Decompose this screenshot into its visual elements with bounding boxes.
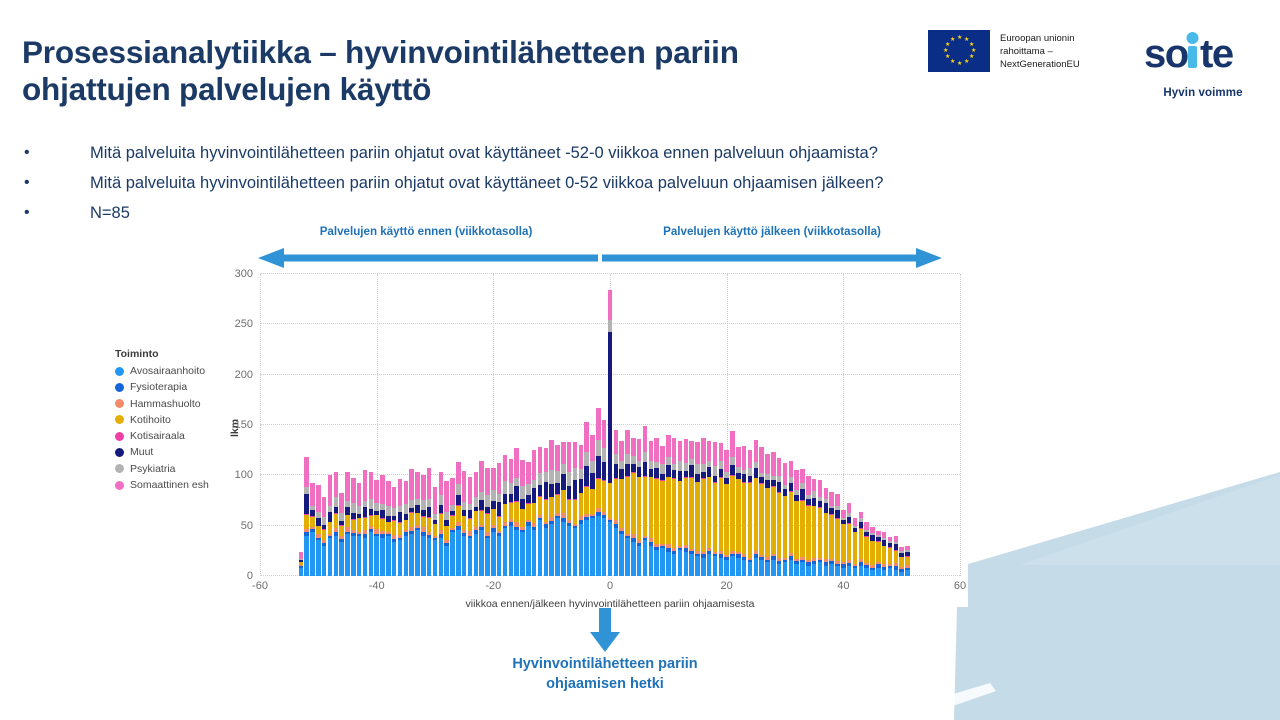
bar[interactable] <box>835 494 840 576</box>
bar-segment <box>549 484 554 496</box>
bar[interactable] <box>561 442 566 576</box>
bar[interactable] <box>783 463 788 576</box>
bar[interactable] <box>608 290 613 576</box>
bar-segment <box>409 469 414 499</box>
bar[interactable] <box>888 537 893 576</box>
legend-item-label: Fysioterapia <box>130 381 187 393</box>
bar[interactable] <box>421 475 426 576</box>
bar-segment <box>719 461 724 469</box>
bar[interactable] <box>328 475 333 576</box>
bar-segment <box>602 448 607 462</box>
bar[interactable] <box>771 452 776 576</box>
bar-segment <box>742 446 747 470</box>
bar-segment <box>614 430 619 454</box>
bar[interactable] <box>701 438 706 576</box>
bar-segment <box>625 464 630 476</box>
bar[interactable] <box>619 441 624 576</box>
bar-segment <box>497 502 502 516</box>
bar[interactable] <box>363 470 368 576</box>
bar-segment <box>619 441 624 461</box>
bar-segment <box>573 480 578 498</box>
bar[interactable] <box>322 497 327 576</box>
bar-segment <box>334 497 339 507</box>
bar[interactable] <box>765 454 770 576</box>
bar[interactable] <box>719 443 724 576</box>
bar-segment <box>392 542 397 576</box>
bar-segment <box>707 554 712 576</box>
bar[interactable] <box>485 468 490 576</box>
bar[interactable] <box>444 481 449 576</box>
bar[interactable] <box>544 448 549 576</box>
bar[interactable] <box>625 430 630 576</box>
plot-area: lkm 050100150200250300-60-40-200204060 v… <box>260 274 960 576</box>
bar-segment <box>409 513 414 527</box>
bar[interactable] <box>439 472 444 576</box>
bar[interactable] <box>789 461 794 576</box>
bar-segment <box>444 546 449 576</box>
bar-segment <box>421 517 426 527</box>
bar-segment <box>754 558 759 576</box>
bar-segment <box>334 472 339 496</box>
legend-item[interactable]: Muut <box>115 446 250 458</box>
bar-segment <box>643 462 648 476</box>
bar-segment <box>503 455 508 481</box>
bar-segment <box>474 497 479 507</box>
bar-segment <box>684 463 689 471</box>
bar[interactable] <box>584 422 589 576</box>
bar[interactable] <box>882 532 887 576</box>
bar-segment <box>806 476 811 494</box>
bar[interactable] <box>742 446 747 576</box>
bar-segment <box>520 486 525 498</box>
bar-segment <box>853 518 858 526</box>
bar-segment <box>392 521 397 535</box>
bar[interactable] <box>427 468 432 576</box>
bar-segment <box>374 536 379 576</box>
bar-segment <box>812 506 817 558</box>
bar[interactable] <box>462 471 467 576</box>
bar-segment <box>672 438 677 464</box>
bar-segment <box>310 532 315 576</box>
bar[interactable] <box>549 440 554 576</box>
bar-segment <box>322 530 327 540</box>
bar-segment <box>462 471 467 501</box>
bar-segment <box>765 488 770 556</box>
bar-segment <box>357 518 362 532</box>
bar-segment <box>602 481 607 511</box>
bar[interactable] <box>450 478 455 576</box>
bar-segment <box>316 540 321 576</box>
legend-swatch-icon <box>115 448 124 457</box>
brush-decoration <box>950 445 1280 720</box>
bar-segment <box>520 460 525 486</box>
bar-segment <box>643 477 648 535</box>
bar-segment <box>561 474 566 490</box>
bar-segment <box>695 482 700 550</box>
bar[interactable] <box>374 480 379 576</box>
bar-segment <box>304 515 309 529</box>
bar-segment <box>299 568 304 576</box>
bar-segment <box>479 511 484 525</box>
bar[interactable] <box>369 472 374 576</box>
bar[interactable] <box>684 439 689 576</box>
bar-segment <box>695 474 700 482</box>
bar[interactable] <box>538 447 543 576</box>
bar[interactable] <box>555 445 560 576</box>
bar[interactable] <box>614 430 619 576</box>
bar-segment <box>549 440 554 470</box>
bar[interactable] <box>736 447 741 576</box>
bar-segment <box>678 441 683 461</box>
bar-segment <box>544 500 549 522</box>
bar-segment <box>555 445 560 471</box>
bar-segment <box>439 505 444 513</box>
bar[interactable] <box>660 446 665 576</box>
bar[interactable] <box>509 459 514 576</box>
bar-segment <box>532 503 537 523</box>
bar-segment <box>824 488 829 498</box>
bar[interactable] <box>339 493 344 577</box>
bar[interactable] <box>847 503 852 576</box>
bar[interactable] <box>864 522 869 576</box>
bar-segment <box>439 495 444 505</box>
bar-segment <box>713 556 718 576</box>
bar-segment <box>859 529 864 559</box>
bar[interactable] <box>777 458 782 576</box>
bar[interactable] <box>794 470 799 576</box>
bar[interactable] <box>386 481 391 576</box>
bar-segment <box>351 503 356 513</box>
legend-item[interactable]: Avosairaanhoito <box>115 365 250 377</box>
bar-segment <box>345 472 350 500</box>
bar-segment <box>829 515 834 559</box>
bar[interactable] <box>853 518 858 576</box>
bar[interactable] <box>806 476 811 576</box>
bar-segment <box>497 463 502 493</box>
bar-segment <box>409 534 414 576</box>
soite-wordmark: so te <box>1144 30 1262 82</box>
bar-segment <box>847 566 852 576</box>
bar-segment <box>596 440 601 456</box>
bar-segment <box>573 528 578 576</box>
bar-segment <box>678 550 683 576</box>
bar[interactable] <box>474 472 479 576</box>
bar-segment <box>870 570 875 576</box>
bar-segment <box>374 480 379 502</box>
bar[interactable] <box>637 439 642 576</box>
bar-segment <box>835 510 840 518</box>
bar-segment <box>649 546 654 576</box>
bar[interactable] <box>870 527 875 576</box>
bar[interactable] <box>672 438 677 576</box>
bar-segment <box>619 479 624 527</box>
bar-segment <box>818 508 823 558</box>
bar[interactable] <box>818 480 823 576</box>
bar-segment <box>637 546 642 576</box>
bar-segment <box>520 532 525 576</box>
bar-segment <box>421 536 426 576</box>
bar-segment <box>567 486 572 498</box>
bar-segment <box>783 463 788 485</box>
bar-segment <box>538 497 543 515</box>
bar-segment <box>695 464 700 474</box>
bar[interactable] <box>398 479 403 576</box>
bar[interactable] <box>579 445 584 576</box>
bar-segment <box>357 483 362 505</box>
bar-segment <box>713 483 718 551</box>
bar[interactable] <box>345 472 350 576</box>
bar-segment <box>614 528 619 576</box>
bar[interactable] <box>730 431 735 576</box>
bar-segment <box>322 497 327 517</box>
bar[interactable] <box>602 420 607 576</box>
bar-segment <box>503 528 508 576</box>
bar-segment <box>456 484 461 494</box>
bar-segment <box>637 439 642 461</box>
bar[interactable] <box>894 536 899 576</box>
bar[interactable] <box>409 469 414 576</box>
bar[interactable] <box>859 512 864 576</box>
bar[interactable] <box>468 477 473 576</box>
bar-segment <box>322 546 327 576</box>
legend-item-label: Kotihoito <box>130 414 171 426</box>
bar-segment <box>783 496 788 558</box>
legend-item[interactable]: Hammashuolto <box>115 398 250 410</box>
bar-segment <box>584 466 589 486</box>
bar-segment <box>789 560 794 576</box>
bar[interactable] <box>812 479 817 576</box>
bar-segment <box>853 532 858 564</box>
bar-segment <box>719 558 724 576</box>
bar[interactable] <box>759 447 764 576</box>
legend-item-label: Avosairaanhoito <box>130 365 205 377</box>
bar-segment <box>824 513 829 559</box>
bar[interactable] <box>713 442 718 576</box>
bar[interactable] <box>800 469 805 576</box>
bar[interactable] <box>643 426 648 576</box>
bar-segment <box>369 516 374 526</box>
bar-segment <box>509 494 514 502</box>
bar[interactable] <box>456 462 461 576</box>
bar-segment <box>514 478 519 486</box>
bar-segment <box>427 468 432 498</box>
bar-segment <box>806 566 811 576</box>
bar-segment <box>643 540 648 576</box>
bar-segment <box>631 542 636 576</box>
bar-segment <box>462 516 467 530</box>
bar-segment <box>765 562 770 576</box>
bar[interactable] <box>299 552 304 576</box>
bar-segment <box>777 482 782 492</box>
bar[interactable] <box>829 492 834 576</box>
bar-segment <box>730 465 735 475</box>
bar-segment <box>666 457 671 465</box>
soite-tagline: Hyvin voimme <box>1163 87 1242 99</box>
bar-segment <box>450 516 455 528</box>
bar[interactable] <box>899 547 904 576</box>
bar-segment <box>596 516 601 576</box>
bar-segment <box>561 490 566 512</box>
bar-segment <box>719 478 724 550</box>
bar[interactable] <box>707 441 712 576</box>
bar-segment <box>730 476 735 550</box>
legend-swatch-icon <box>115 432 124 441</box>
bar-segment <box>724 484 729 554</box>
bar-segment <box>485 538 490 576</box>
bar[interactable] <box>392 487 397 576</box>
slide: Prosessianalytiikka – hyvinvointilähette… <box>0 0 1280 720</box>
bar-segment <box>427 507 432 517</box>
bar-segment <box>456 530 461 576</box>
bar-segment <box>800 562 805 576</box>
bar[interactable] <box>824 488 829 576</box>
bar[interactable] <box>876 531 881 576</box>
bar-segment <box>369 472 374 498</box>
bar[interactable] <box>310 483 315 576</box>
bar[interactable] <box>404 481 409 576</box>
bar[interactable] <box>841 510 846 576</box>
bar[interactable] <box>351 478 356 576</box>
bar-segment <box>841 568 846 576</box>
bar-segment <box>654 468 659 478</box>
bar-segment <box>707 441 712 461</box>
bar[interactable] <box>433 487 438 576</box>
bar[interactable] <box>654 438 659 576</box>
bar-segment <box>380 519 385 531</box>
bar[interactable] <box>724 450 729 576</box>
bar[interactable] <box>695 442 700 576</box>
bar-segment <box>730 556 735 576</box>
bar-segment <box>695 442 700 464</box>
bar[interactable] <box>491 468 496 576</box>
bar[interactable] <box>357 483 362 576</box>
bar-segment <box>380 475 385 503</box>
bar-segment <box>812 479 817 491</box>
bar-segment <box>491 490 496 500</box>
bar[interactable] <box>678 441 683 576</box>
after-arrow-label-wrap: Palvelujen käyttö jälkeen (viikkotasolla… <box>602 225 942 238</box>
bar-segment <box>386 522 391 532</box>
bar-segment <box>491 468 496 490</box>
legend-item[interactable]: Psykiatria <box>115 463 250 475</box>
bar-segment <box>584 452 589 466</box>
bar-segment <box>316 526 321 534</box>
bar-segment <box>894 551 899 563</box>
bar-segment <box>474 472 479 496</box>
bar-segment <box>514 530 519 576</box>
bar-segment <box>514 486 519 500</box>
bar[interactable] <box>479 461 484 576</box>
bar-segment <box>876 542 881 562</box>
bar[interactable] <box>689 441 694 576</box>
legend-item[interactable]: Somaattinen esh <box>115 479 250 491</box>
bar-segment <box>450 532 455 576</box>
legend-title: Toiminto <box>115 348 250 360</box>
bar-segment <box>684 552 689 576</box>
bar[interactable] <box>567 442 572 576</box>
y-axis-tick: 150 <box>235 419 253 431</box>
bar-segment <box>841 524 846 562</box>
bar-segment <box>339 513 344 521</box>
bar[interactable] <box>497 463 502 576</box>
bar-segment <box>777 458 782 476</box>
bar-segment <box>439 538 444 576</box>
bar-segment <box>538 485 543 495</box>
bar-segment <box>654 438 659 462</box>
bar[interactable] <box>748 450 753 576</box>
bar[interactable] <box>754 440 759 576</box>
bar-segment <box>322 517 327 525</box>
bar[interactable] <box>520 460 525 576</box>
bar-segment <box>304 494 309 514</box>
bar[interactable] <box>532 450 537 576</box>
y-axis-tick: 50 <box>241 520 253 532</box>
bar[interactable] <box>316 485 321 576</box>
bar-segment <box>392 487 397 507</box>
bar-segment <box>316 485 321 511</box>
bar-segment <box>608 320 613 332</box>
bar[interactable] <box>334 472 339 576</box>
bar-segment <box>759 560 764 576</box>
bar[interactable] <box>596 408 601 576</box>
bar-segment <box>689 441 694 459</box>
bar-segment <box>608 332 613 483</box>
bar-segment <box>713 466 718 476</box>
legend-swatch-icon <box>115 464 124 473</box>
bar[interactable] <box>526 462 531 576</box>
bar[interactable] <box>649 441 654 576</box>
soite-logo: so te Hyvin voimme <box>1144 30 1262 99</box>
bar-segment <box>421 475 426 499</box>
bar-segment <box>864 537 869 563</box>
bar-segment <box>561 464 566 474</box>
bar-segment <box>328 522 333 534</box>
legend-swatch-icon <box>115 399 124 408</box>
bar[interactable] <box>415 472 420 576</box>
bar-segment <box>742 560 747 576</box>
bar[interactable] <box>503 455 508 576</box>
bar-segment <box>503 481 508 493</box>
bar-segment <box>357 506 362 514</box>
bar-segment <box>864 522 869 530</box>
bar-segment <box>514 502 519 522</box>
bar-segment <box>736 479 741 551</box>
bar[interactable] <box>304 457 309 576</box>
bar[interactable] <box>631 438 636 576</box>
bar-segment <box>316 518 321 526</box>
bar[interactable] <box>514 448 519 576</box>
bar-segment <box>456 462 461 484</box>
bar[interactable] <box>380 475 385 576</box>
bar[interactable] <box>590 435 595 576</box>
bar-segment <box>619 461 624 469</box>
bar-segment <box>444 526 449 540</box>
bar-segment <box>479 530 484 576</box>
bar-segment <box>789 461 794 477</box>
bar[interactable] <box>573 442 578 576</box>
bar-segment <box>555 518 560 576</box>
legend-item[interactable]: Fysioterapia <box>115 381 250 393</box>
bar-segment <box>888 548 893 564</box>
bar-segment <box>386 481 391 505</box>
eu-flag-icon: ★ ★ ★ ★ ★ ★ ★ ★ ★ ★ ★ ★ <box>928 30 990 72</box>
bar-segment <box>567 526 572 576</box>
left-arrow-icon <box>258 246 598 270</box>
bar-segment <box>468 510 473 518</box>
bar[interactable] <box>666 435 671 576</box>
bar[interactable] <box>905 546 910 576</box>
bar-segment <box>602 462 607 480</box>
